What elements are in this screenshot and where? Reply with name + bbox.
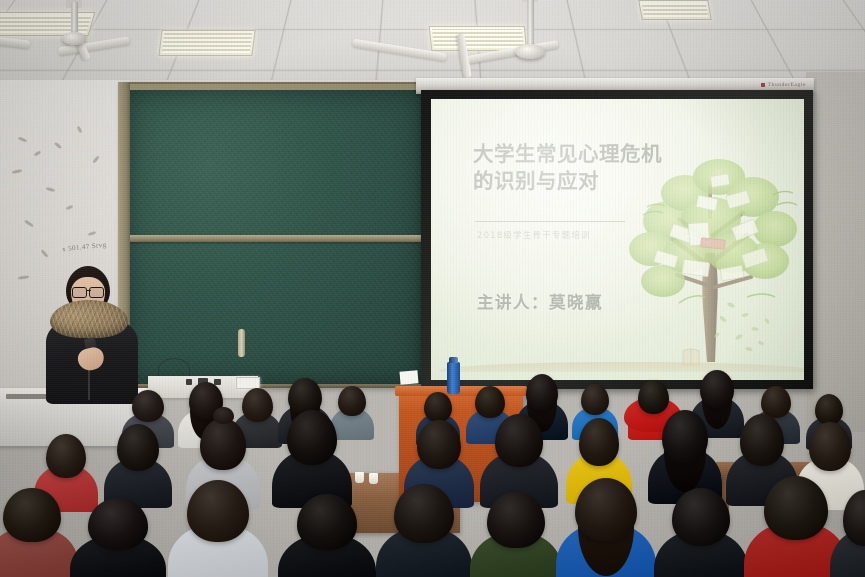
- audience-member: [70, 498, 166, 577]
- fan-hub: [62, 32, 86, 45]
- audience-member: [278, 494, 376, 577]
- fan-hub: [515, 44, 545, 59]
- wall-scuff: [18, 136, 27, 142]
- audience-member-head: [287, 410, 337, 465]
- projector-brand-logo: ThunderEagle: [761, 82, 806, 88]
- wall-scuff: [12, 169, 22, 174]
- slide-subtitle: 2018级学生骨干专题培训: [477, 229, 591, 241]
- audience-member: [470, 492, 562, 577]
- audience-member-head: [3, 488, 60, 542]
- audience-member-head: [487, 492, 544, 548]
- audience-member-head: [495, 414, 543, 467]
- speaker-glasses: [71, 287, 105, 296]
- audience-member: [0, 488, 78, 577]
- audience-member-head: [297, 494, 358, 550]
- glasses-bridge: [86, 290, 91, 291]
- glasses-lens: [72, 287, 87, 298]
- audience-member-head: [200, 418, 246, 470]
- audience-member-head: [117, 424, 159, 471]
- blackboard-divider-rail: [127, 235, 422, 242]
- wall-scuff: [77, 126, 83, 134]
- blackboard: [118, 82, 428, 388]
- ceiling-light-fixture: [158, 30, 255, 56]
- audience-member-head: [809, 422, 851, 471]
- wall-scuff: [34, 150, 42, 156]
- projection-screen-frame: 大学生常见心理危机 的识别与应对 2018级学生骨干专题培训 主讲人：莫晓羸: [421, 90, 813, 389]
- projection-screen-surface: 大学生常见心理危机 的识别与应对 2018级学生骨干专题培训 主讲人：莫晓羸: [431, 99, 804, 380]
- wall-scuff: [46, 187, 55, 192]
- audience-member-head: [638, 380, 669, 414]
- audience-member-hair-bun: [213, 407, 234, 425]
- audience-member-head: [394, 484, 454, 543]
- wall-scuff: [92, 155, 99, 163]
- audience-member-head: [579, 418, 620, 466]
- audience-member: [104, 424, 172, 508]
- blackboard-slide-handle[interactable]: [238, 329, 245, 357]
- audience-member: [168, 480, 268, 577]
- audience-member: [556, 478, 656, 577]
- audience-member-head: [526, 374, 558, 411]
- fan-blade: [467, 40, 559, 64]
- student-audience: [0, 360, 865, 577]
- audience-member-head: [242, 388, 273, 422]
- audience-member: [654, 488, 748, 577]
- audience-member-head: [815, 394, 844, 425]
- wall-scuff: [66, 205, 74, 211]
- audience-member-head: [575, 478, 637, 541]
- audience-member-head: [581, 384, 610, 415]
- audience-member-head: [88, 498, 148, 550]
- wall-scuff: [40, 249, 48, 258]
- classroom-photo-scene: x 501.47 Srvg ThunderEagle: [0, 0, 865, 577]
- ceiling-fan: [14, 2, 134, 62]
- audience-member: [830, 490, 865, 577]
- audience-member-head: [417, 420, 460, 469]
- audience-member: [376, 484, 472, 577]
- wall-scuff: [24, 219, 34, 227]
- audience-member-head: [740, 414, 785, 466]
- audience-member-head: [46, 434, 86, 478]
- slide-title: 大学生常见心理危机 的识别与应对: [473, 141, 703, 195]
- audience-member-head: [662, 410, 708, 463]
- audience-member-head: [132, 390, 164, 422]
- glasses-lens: [89, 287, 104, 298]
- audience-member-head: [672, 488, 730, 546]
- wall-scuff: [54, 142, 62, 149]
- ceiling-fan: [440, 0, 620, 86]
- speaker-fur-hood: [50, 300, 128, 338]
- audience-member-head: [187, 480, 249, 542]
- audience-member-head: [700, 370, 733, 408]
- audience-member-head: [424, 392, 451, 422]
- ceiling-light-fixture: [638, 0, 712, 20]
- slide-divider: [475, 221, 625, 222]
- audience-member-head: [764, 476, 828, 540]
- wall-scuff: [18, 275, 29, 280]
- wall-scuff: [88, 231, 97, 236]
- slide-presenter: 主讲人：莫晓羸: [477, 289, 603, 313]
- fan-rod: [527, 0, 534, 48]
